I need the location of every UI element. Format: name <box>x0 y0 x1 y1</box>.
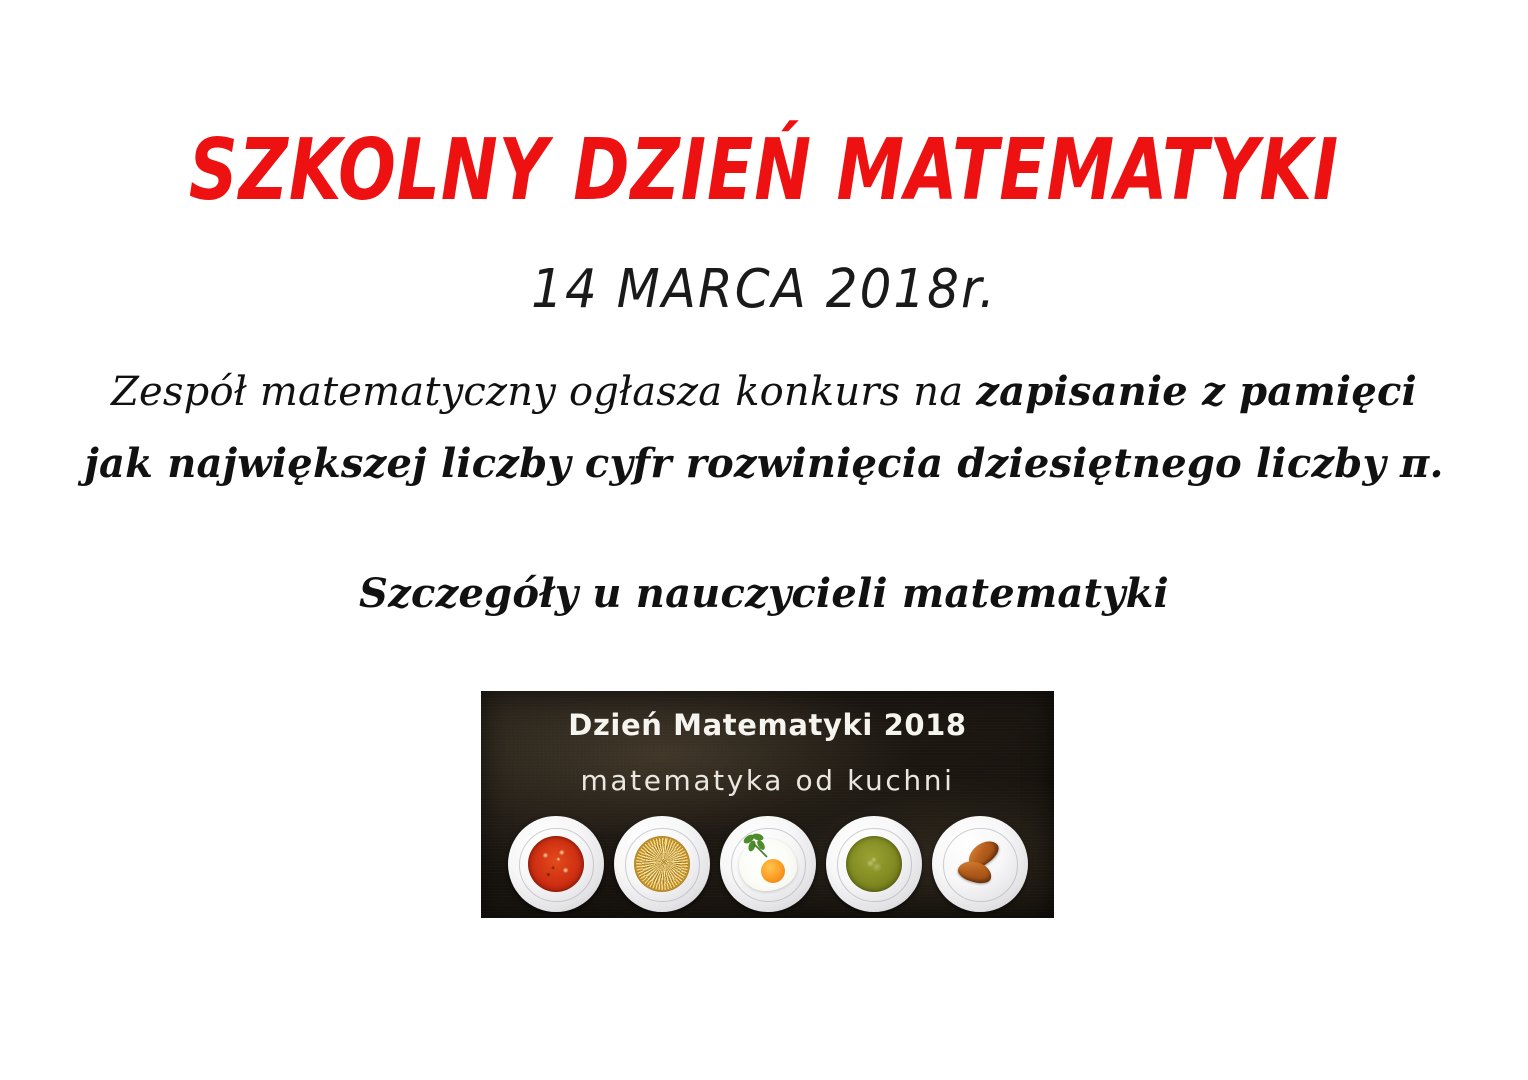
announcement-line-2: jak największej liczby cyfr rozwinięcia … <box>0 428 1528 500</box>
announcement-line-1-emphasis: zapisanie z pamięci <box>976 368 1417 415</box>
plate-fried-egg <box>720 816 816 912</box>
announcement-line-1-normal: Zespół matematyczny ogłasza konkurs na <box>111 369 976 415</box>
event-date: 14 MARCA 2018r. <box>0 262 1528 316</box>
plates-row <box>481 813 1054 915</box>
pi-symbol: π. <box>1400 440 1444 487</box>
banner-image: Dzień Matematyki 2018 matematyka od kuch… <box>481 691 1054 918</box>
details-text: Szczegóły u nauczycieli matematyki <box>0 570 1528 617</box>
announcement-line-1: Zespół matematyczny ogłasza konkurs na z… <box>0 356 1528 428</box>
announcement-text: Zespół matematyczny ogłasza konkurs na z… <box>0 356 1528 500</box>
banner-title: Dzień Matematyki 2018 <box>481 708 1054 742</box>
green-soup-icon <box>846 836 902 892</box>
pasta-icon <box>634 836 690 892</box>
herb-garnish-icon <box>741 833 769 859</box>
fried-egg-icon <box>737 833 799 895</box>
plate-green-soup <box>826 816 922 912</box>
croissants-icon <box>952 836 1008 892</box>
egg-yolk-shape <box>761 859 785 883</box>
tomato-soup-icon <box>528 836 584 892</box>
plate-tomato-soup <box>508 816 604 912</box>
plate-pasta <box>614 816 710 912</box>
poster-canvas: SZKOLNY DZIEŃ MATEMATYKI 14 MARCA 2018r.… <box>0 0 1528 1080</box>
plate-croissants <box>932 816 1028 912</box>
announcement-line-2-text: jak największej liczby cyfr rozwinięcia … <box>84 440 1400 487</box>
page-title: SZKOLNY DZIEŃ MATEMATYKI <box>53 128 1474 213</box>
banner-subtitle: matematyka od kuchni <box>481 764 1054 797</box>
